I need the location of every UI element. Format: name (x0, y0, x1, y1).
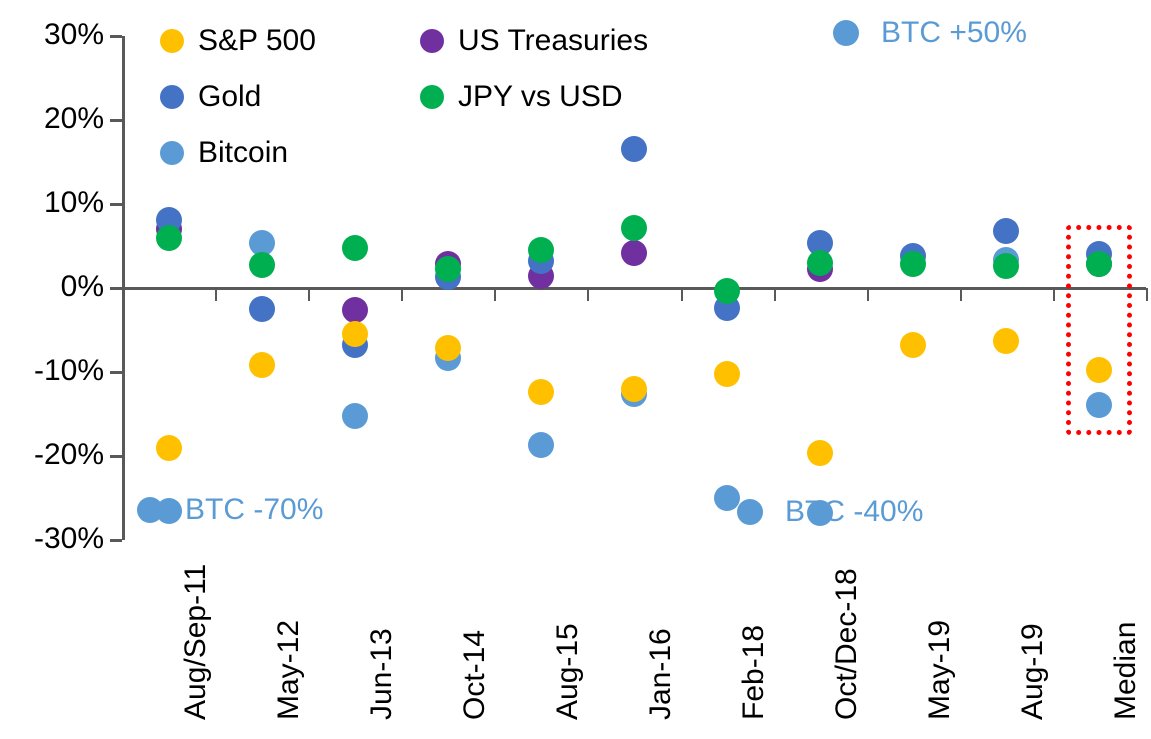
data-point (342, 235, 368, 261)
data-point (1086, 251, 1112, 277)
legend-label: JPY vs USD (458, 82, 623, 112)
bitcoin-marker-icon (833, 20, 859, 46)
data-point (621, 215, 647, 241)
legend-item-bitcoin[interactable]: Bitcoin (160, 138, 288, 168)
data-point (342, 297, 368, 323)
data-point (621, 376, 647, 402)
data-point (1086, 392, 1112, 418)
data-point (993, 218, 1019, 244)
legend-label: Bitcoin (198, 138, 288, 168)
data-point (621, 136, 647, 162)
bitcoin-marker-icon (137, 497, 163, 523)
data-point (249, 296, 275, 322)
legend-item-jpy-vs-usd[interactable]: JPY vs USD (420, 82, 623, 112)
legend-label: S&P 500 (198, 26, 316, 56)
legend-marker-icon (160, 85, 184, 109)
data-point (528, 432, 554, 458)
legend-label: US Treasuries (458, 26, 648, 56)
data-point (528, 379, 554, 405)
annotation-btc-down-40: BTC -40% (737, 497, 923, 527)
data-point (1086, 357, 1112, 383)
legend-item-s-p-500[interactable]: S&P 500 (160, 26, 316, 56)
data-point (435, 256, 461, 282)
data-point (807, 250, 833, 276)
data-point (156, 435, 182, 461)
data-point (900, 251, 926, 277)
legend-item-us-treasuries[interactable]: US Treasuries (420, 26, 648, 56)
annotation-text: BTC -70% (185, 495, 323, 525)
legend-label: Gold (198, 82, 261, 112)
legend-marker-icon (420, 29, 444, 53)
data-point (900, 332, 926, 358)
annotation-btc-up-50: BTC +50% (833, 18, 1027, 48)
annotation-btc-down-70: BTC -70% (137, 495, 323, 525)
legend-marker-icon (160, 141, 184, 165)
data-point (342, 321, 368, 347)
data-point (993, 328, 1019, 354)
annotation-text: BTC -40% (785, 497, 923, 527)
annotation-text: BTC +50% (881, 18, 1027, 48)
data-point (993, 253, 1019, 279)
data-point (714, 361, 740, 387)
data-point (435, 335, 461, 361)
data-point (807, 440, 833, 466)
chart-canvas: 30%20%10%0%-10%-20%-30%Aug/Sep-11May-12J… (0, 0, 1151, 739)
legend-marker-icon (420, 85, 444, 109)
data-point (528, 237, 554, 263)
data-point (342, 403, 368, 429)
data-point (621, 240, 647, 266)
bitcoin-marker-icon (737, 499, 763, 525)
data-point (714, 278, 740, 304)
legend-marker-icon (160, 29, 184, 53)
data-point (156, 225, 182, 251)
data-point (249, 352, 275, 378)
legend-item-gold[interactable]: Gold (160, 82, 261, 112)
data-point (249, 252, 275, 278)
